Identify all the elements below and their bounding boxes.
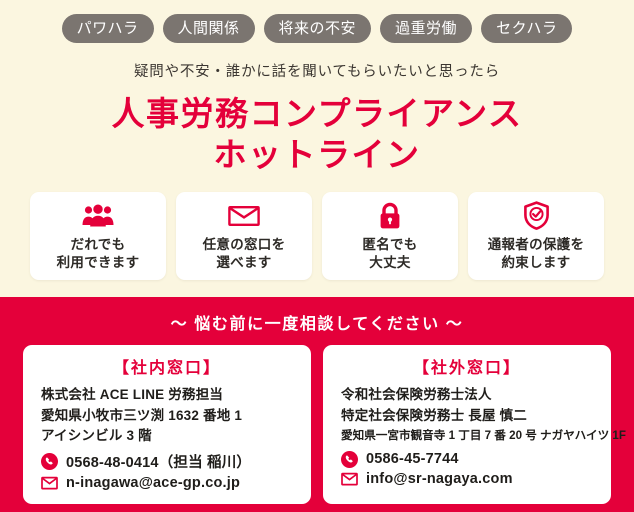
concern-tag: 過重労働 xyxy=(380,14,472,43)
feature-card-choose-window: 任意の窓口を 選べます xyxy=(176,192,312,280)
contact-email-row[interactable]: n-inagawa@ace-gp.co.jp xyxy=(41,475,311,492)
shield-check-icon xyxy=(523,201,550,231)
feature-card-anonymous: 匿名でも 大丈夫 xyxy=(322,192,458,280)
feature-card-text: 匿名でも 大丈夫 xyxy=(362,236,417,272)
padlock-icon xyxy=(377,201,403,231)
mail-icon xyxy=(341,471,358,488)
contact-email-address: n-inagawa@ace-gp.co.jp xyxy=(66,475,240,491)
contact-address-line: 愛知県一宮市観音寺 1 丁目 7 番 20 号 ナガヤハイツ 1F xyxy=(341,426,611,447)
contact-email-address: info@sr-nagaya.com xyxy=(366,471,513,487)
page-title-line-2: ホットライン xyxy=(0,134,634,175)
contact-phone-row[interactable]: 0586-45-7744 xyxy=(341,451,611,468)
lead-text: 疑問や不安・誰かに話を聞いてもらいたいと思ったら xyxy=(0,60,634,81)
feature-text-line-2: 選べます xyxy=(203,254,286,272)
contact-card-title: 【社内窓口】 xyxy=(23,354,311,378)
feature-card-protection: 通報者の保護を 約束します xyxy=(468,192,604,280)
feature-text-line-2: 約束します xyxy=(488,254,585,272)
contact-address-line: アイシンビル 3 階 xyxy=(41,426,311,447)
feature-card-text: 任意の窓口を 選べます xyxy=(203,236,286,272)
contact-card-external: 【社外窓口】 令和社会保険労務士法人 特定社会保険労務士 長屋 慎二 愛知県一宮… xyxy=(323,345,611,504)
concern-tag: セクハラ xyxy=(481,14,572,43)
contact-address-line: 特定社会保険労務士 長屋 慎二 xyxy=(341,406,611,427)
page-title: 人事労務コンプライアンス ホットライン xyxy=(0,93,634,175)
feature-text-line-1: だれでも xyxy=(57,236,140,254)
phone-icon xyxy=(41,453,58,470)
concern-tag: パワハラ xyxy=(62,14,154,43)
contact-card-body: 株式会社 ACE LINE 労務担当 愛知県小牧市三ツ渕 1632 番地 1 ア… xyxy=(23,385,311,492)
feature-card-text: だれでも 利用できます xyxy=(57,236,140,272)
group-people-icon xyxy=(82,201,114,231)
contact-phone-number: 0586-45-7744 xyxy=(366,451,459,467)
contact-card-body: 令和社会保険労務士法人 特定社会保険労務士 長屋 慎二 愛知県一宮市観音寺 1 … xyxy=(323,385,611,488)
poster-root: パワハラ 人間関係 将来の不安 過重労働 セクハラ 疑問や不安・誰かに話を聞いて… xyxy=(0,0,634,512)
feature-card-text: 通報者の保護を 約束します xyxy=(488,236,585,272)
feature-text-line-1: 任意の窓口を xyxy=(203,236,286,254)
contact-card-row: 【社内窓口】 株式会社 ACE LINE 労務担当 愛知県小牧市三ツ渕 1632… xyxy=(0,345,634,504)
concern-tag-row: パワハラ 人間関係 将来の不安 過重労働 セクハラ xyxy=(0,13,634,43)
feature-card-anyone: だれでも 利用できます xyxy=(30,192,166,280)
concern-tag: 将来の不安 xyxy=(264,14,372,43)
concern-tag: 人間関係 xyxy=(163,14,255,43)
contact-card-title: 【社外窓口】 xyxy=(323,354,611,378)
contact-section: 〜 悩む前に一度相談してください 〜 【社内窓口】 株式会社 ACE LINE … xyxy=(0,297,634,512)
contact-email-row[interactable]: info@sr-nagaya.com xyxy=(341,471,611,488)
contact-address-line: 令和社会保険労務士法人 xyxy=(341,385,611,406)
feature-text-line-2: 大丈夫 xyxy=(362,254,417,272)
phone-icon xyxy=(341,451,358,468)
top-section: パワハラ 人間関係 将来の不安 過重労働 セクハラ 疑問や不安・誰かに話を聞いて… xyxy=(0,0,634,297)
feature-card-row: だれでも 利用できます 任意の窓口を 選べます xyxy=(0,192,634,297)
envelope-icon xyxy=(228,201,260,231)
feature-text-line-1: 匿名でも xyxy=(362,236,417,254)
contact-phone-row[interactable]: 0568-48-0414（担当 稲川） xyxy=(41,451,311,472)
contact-phone-number: 0568-48-0414（担当 稲川） xyxy=(66,451,251,472)
mail-icon xyxy=(41,475,58,492)
contact-address-line: 株式会社 ACE LINE 労務担当 xyxy=(41,385,311,406)
feature-text-line-1: 通報者の保護を xyxy=(488,236,585,254)
contact-address-line: 愛知県小牧市三ツ渕 1632 番地 1 xyxy=(41,406,311,427)
contact-card-internal: 【社内窓口】 株式会社 ACE LINE 労務担当 愛知県小牧市三ツ渕 1632… xyxy=(23,345,311,504)
call-to-action-banner: 〜 悩む前に一度相談してください 〜 xyxy=(171,297,464,345)
page-title-line-1: 人事労務コンプライアンス xyxy=(0,93,634,134)
feature-text-line-2: 利用できます xyxy=(57,254,140,272)
